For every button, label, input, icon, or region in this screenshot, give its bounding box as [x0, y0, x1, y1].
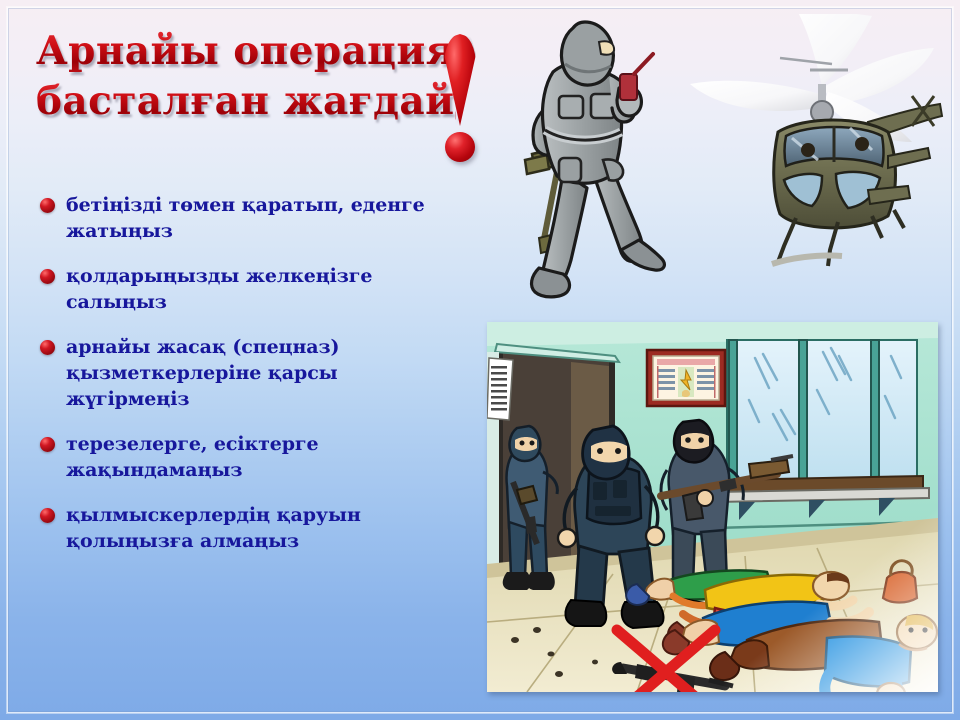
- radio-icon: [620, 54, 653, 100]
- instruction-list: бетіңізді төмен қаратып, еденге жатыңыз …: [40, 192, 440, 573]
- left-wall-notice: [487, 358, 513, 420]
- exclamation-label: !: [432, 34, 433, 35]
- hostage-scene-illustration: [487, 322, 938, 692]
- list-item: қолдарыңызды желкеңізге салыңыз: [40, 263, 440, 315]
- list-item: терезелерге, есіктерге жақындамаңыз: [40, 431, 440, 483]
- list-item: бетіңізді төмен қаратып, еденге жатыңыз: [40, 192, 440, 244]
- list-item-label: терезелерге, есіктерге жақындамаңыз: [66, 431, 440, 483]
- bullet-dot-icon: [40, 437, 55, 452]
- list-item: қылмыскерлердің қаруын қолыңызға алмаңыз: [40, 502, 440, 554]
- page-title: Арнайы операция басталған жағдайда: [36, 26, 456, 126]
- helicopter-illustration: [672, 14, 960, 294]
- notice-board: [647, 350, 725, 406]
- window-group: [727, 340, 917, 480]
- bullet-dot-icon: [40, 508, 55, 523]
- list-item: арнайы жасақ (спецназ) қызметкерлеріне қ…: [40, 334, 440, 412]
- bullet-dot-icon: [40, 340, 55, 355]
- list-item-label: арнайы жасақ (спецназ) қызметкерлеріне қ…: [66, 334, 440, 412]
- exclamation-dot: [445, 132, 475, 162]
- list-item-label: қылмыскерлердің қаруын қолыңызға алмаңыз: [66, 502, 440, 554]
- title-line-2: басталған жағдайда: [36, 76, 456, 126]
- bullet-dot-icon: [40, 198, 55, 213]
- list-item-label: бетіңізді төмен қаратып, еденге жатыңыз: [66, 192, 440, 244]
- exclamation-stem: [444, 34, 476, 126]
- slide-canvas: Арнайы операция басталған жағдайда ! бет…: [0, 0, 960, 720]
- exclamation-mark-icon: !: [432, 34, 488, 164]
- title-line-1: Арнайы операция: [36, 26, 456, 76]
- hostage-scene-panel: [487, 322, 938, 692]
- bullet-dot-icon: [40, 269, 55, 284]
- soldier-figure-icon: [487, 12, 697, 312]
- helicopter-icon: [672, 14, 960, 294]
- list-item-label: қолдарыңызды желкеңізге салыңыз: [66, 263, 440, 315]
- soldier-illustration: [487, 12, 697, 312]
